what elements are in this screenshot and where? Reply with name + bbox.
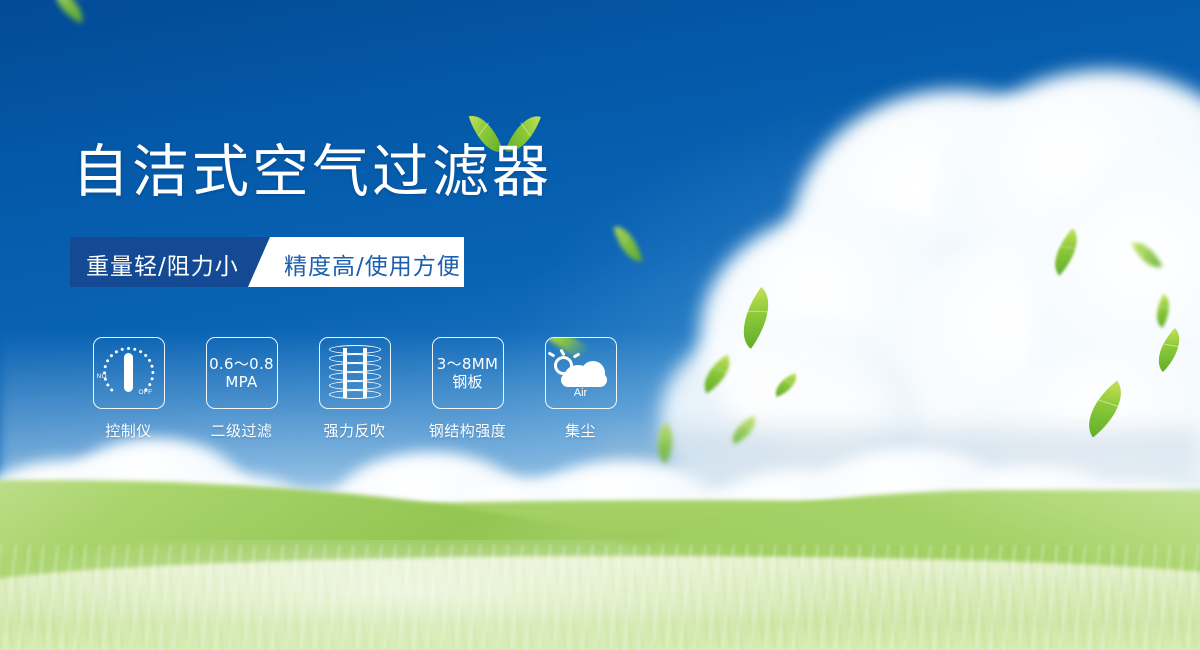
subtitle-segment-right: 精度高/使用方便 (248, 237, 464, 287)
feature-label: 强力反吹 (323, 420, 385, 441)
feature-label: 控制仪 (105, 420, 152, 441)
feature-label: 钢结构强度 (429, 420, 507, 441)
grass-highlight (0, 540, 1200, 650)
steel-value-line1: 3〜8MM (437, 355, 498, 373)
subtitle-right-text: 精度高/使用方便 (284, 247, 461, 281)
gauge-needle (124, 353, 133, 392)
subtitle-left-text: 重量轻/阻力小 (86, 247, 239, 281)
pressure-value-line1: 0.6〜0.8 (209, 355, 274, 373)
feature-icon-box (319, 337, 391, 409)
gauge-icon: NO OFF (99, 345, 159, 401)
feature-item-steel[interactable]: 3〜8MM 钢板 钢结构强度 (411, 337, 524, 441)
feature-label: 二级过滤 (210, 420, 272, 441)
feature-item-pressure[interactable]: 0.6〜0.8 MPA 二级过滤 (185, 337, 298, 441)
feature-icon-box: Air (545, 337, 617, 409)
filter-disc-stack-icon (329, 345, 381, 401)
subtitle-segment-left: 重量轻/阻力小 (70, 237, 270, 287)
product-banner: 自洁式空气过滤器 重量轻/阻力小 精度高/使用方便 (0, 0, 1200, 650)
feature-icon-box: 0.6〜0.8 MPA (206, 337, 278, 409)
pressure-value-line2: MPA (225, 373, 257, 391)
feature-item-dust[interactable]: Air 集尘 (524, 337, 637, 441)
feature-item-controller[interactable]: NO OFF 控制仪 (72, 337, 185, 441)
feature-icon-box: 3〜8MM 钢板 (432, 337, 504, 409)
cloud-air-icon: Air (551, 345, 611, 401)
feature-item-backblow[interactable]: 强力反吹 (298, 337, 411, 441)
air-text: Air (551, 387, 611, 399)
page-title: 自洁式空气过滤器 (72, 144, 552, 201)
gauge-label-no: NO (97, 373, 107, 380)
steel-value-line2: 钢板 (452, 373, 483, 391)
subtitle-bar: 重量轻/阻力小 精度高/使用方便 (70, 237, 464, 287)
feature-icon-box: NO OFF (93, 337, 165, 409)
gauge-label-off: OFF (139, 389, 153, 396)
feature-label: 集尘 (565, 420, 596, 441)
feature-list: NO OFF 控制仪 0.6〜0.8 MPA 二级过滤 (72, 337, 637, 441)
